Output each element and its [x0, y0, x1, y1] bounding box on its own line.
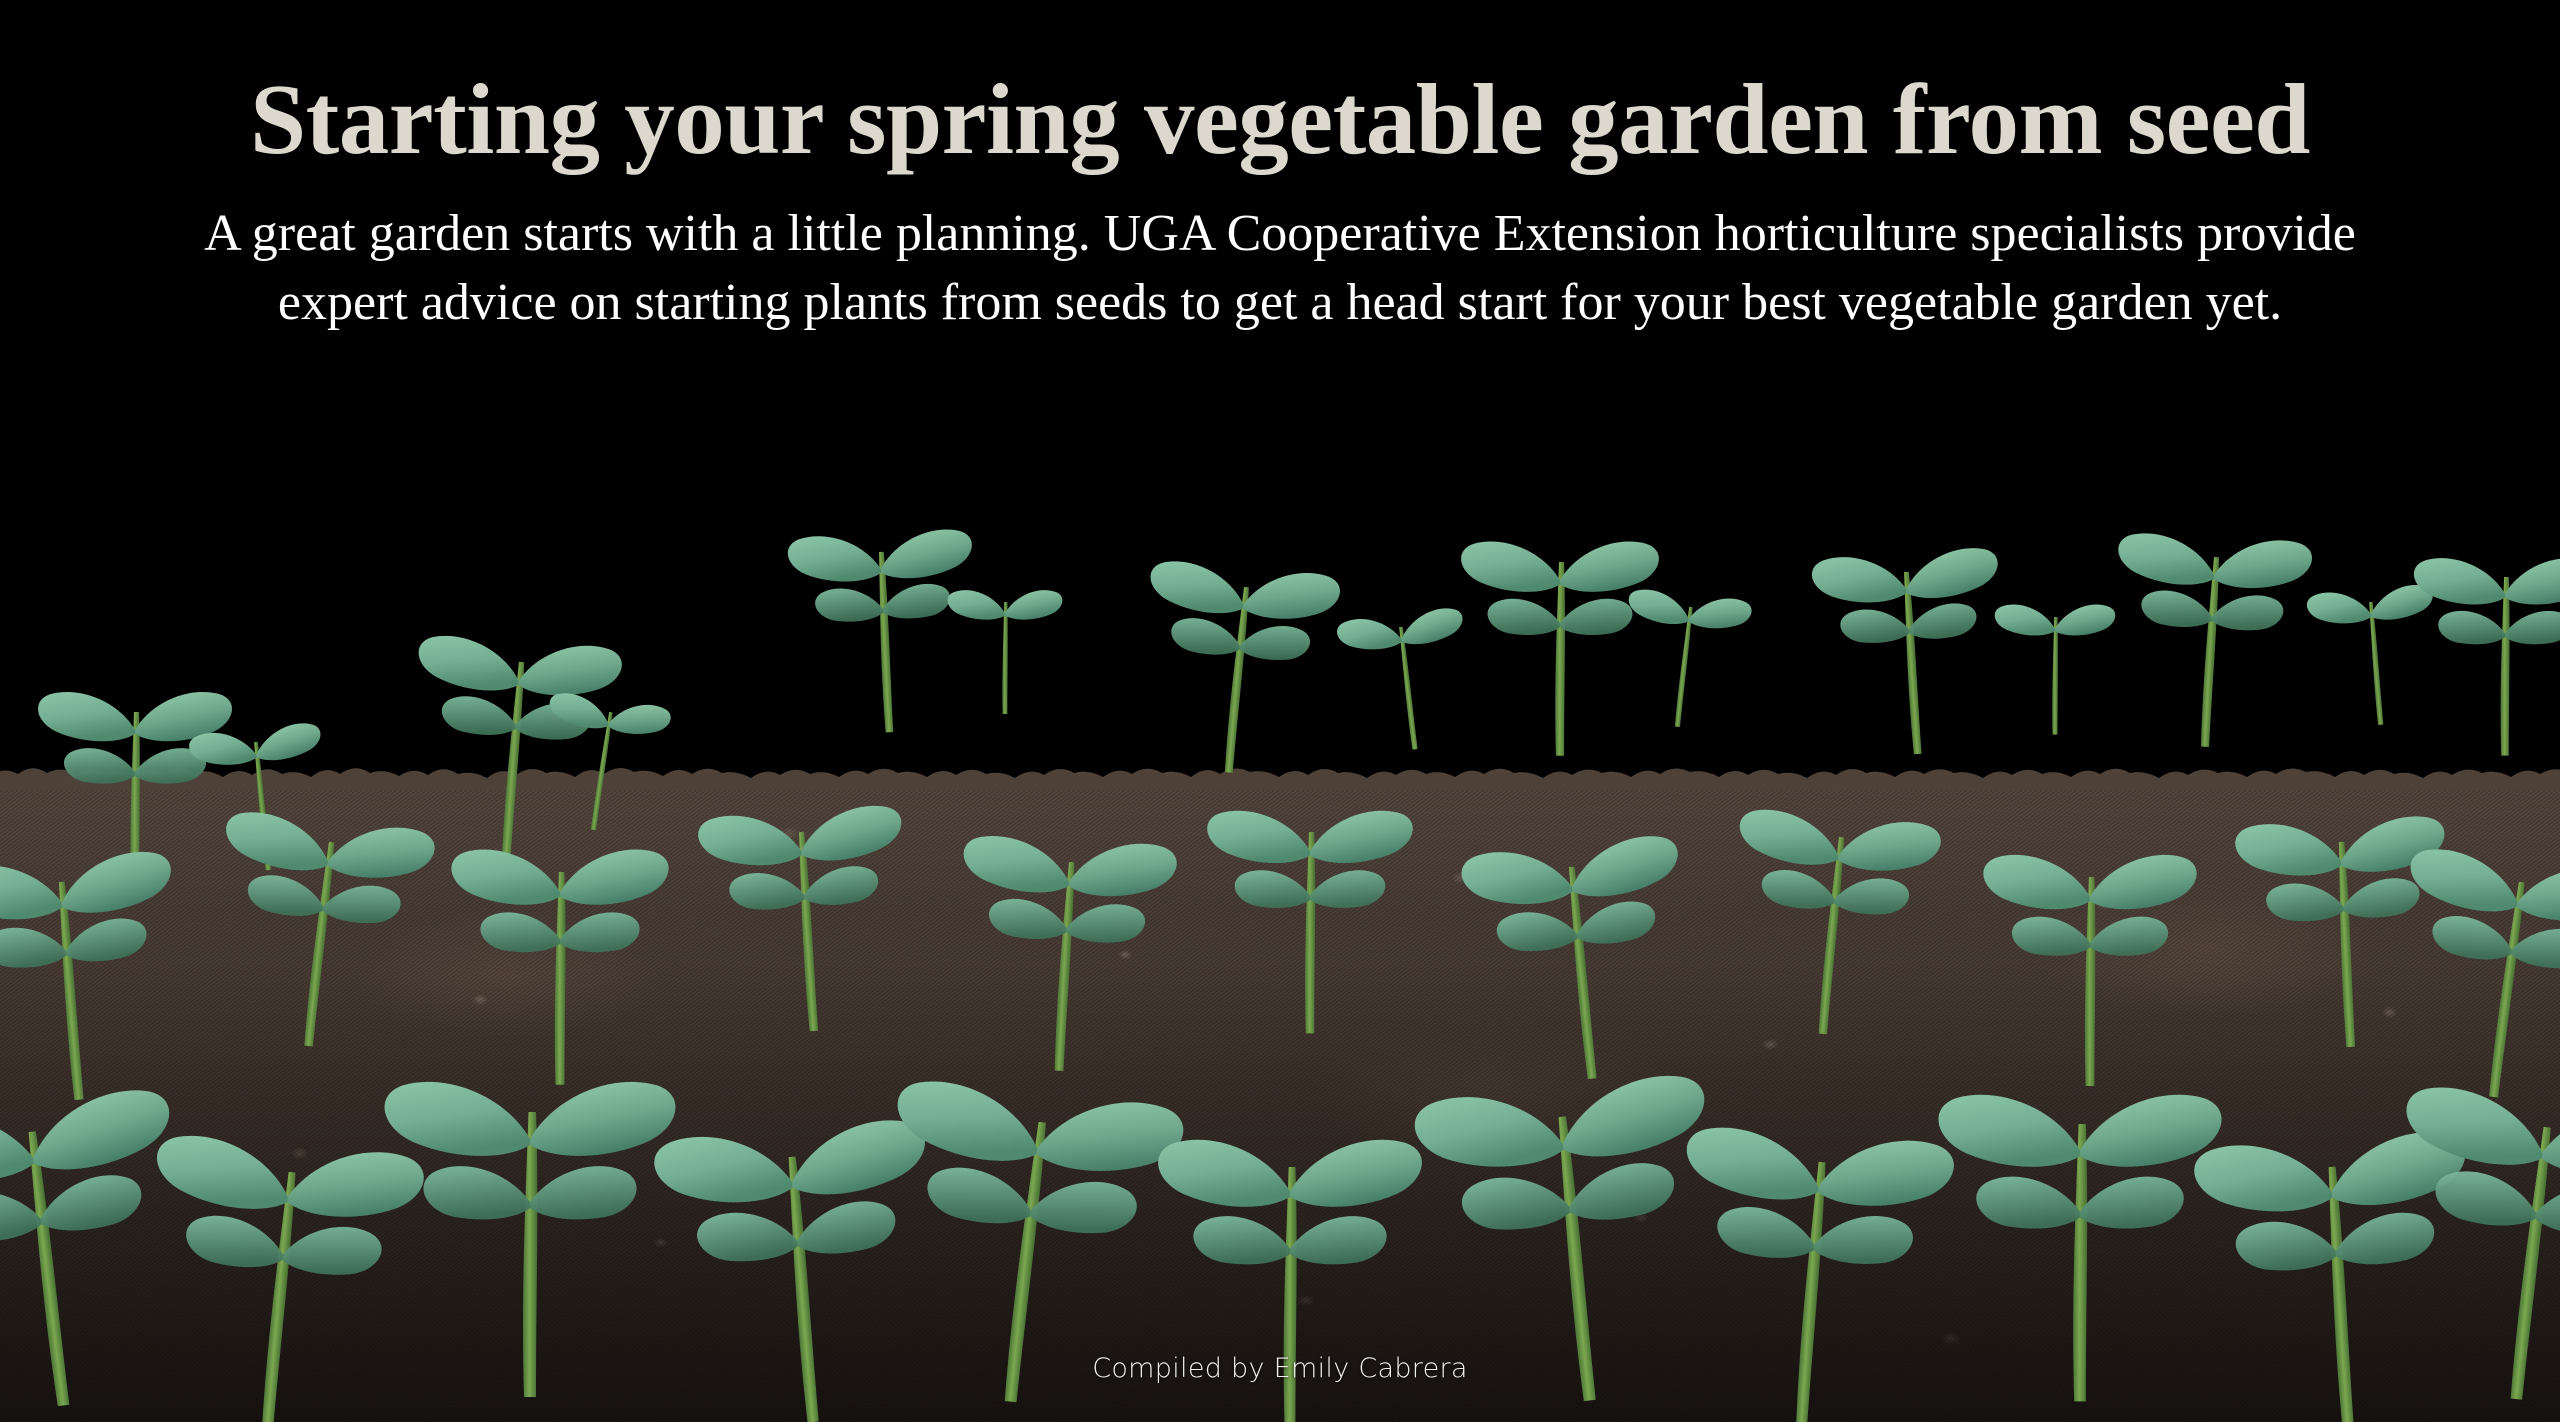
byline-credit: Compiled by Emily Cabrera: [0, 1353, 2560, 1384]
page-subtitle: A great garden starts with a little plan…: [90, 199, 2470, 337]
seedling-photo: [0, 412, 2560, 1422]
page-title: Starting your spring vegetable garden fr…: [130, 62, 2430, 177]
soil-bed: [0, 782, 2560, 1422]
hero-banner: Starting your spring vegetable garden fr…: [0, 0, 2560, 1422]
soil-crest-line: [0, 760, 2560, 790]
hero-text-block: Starting your spring vegetable garden fr…: [0, 0, 2560, 337]
